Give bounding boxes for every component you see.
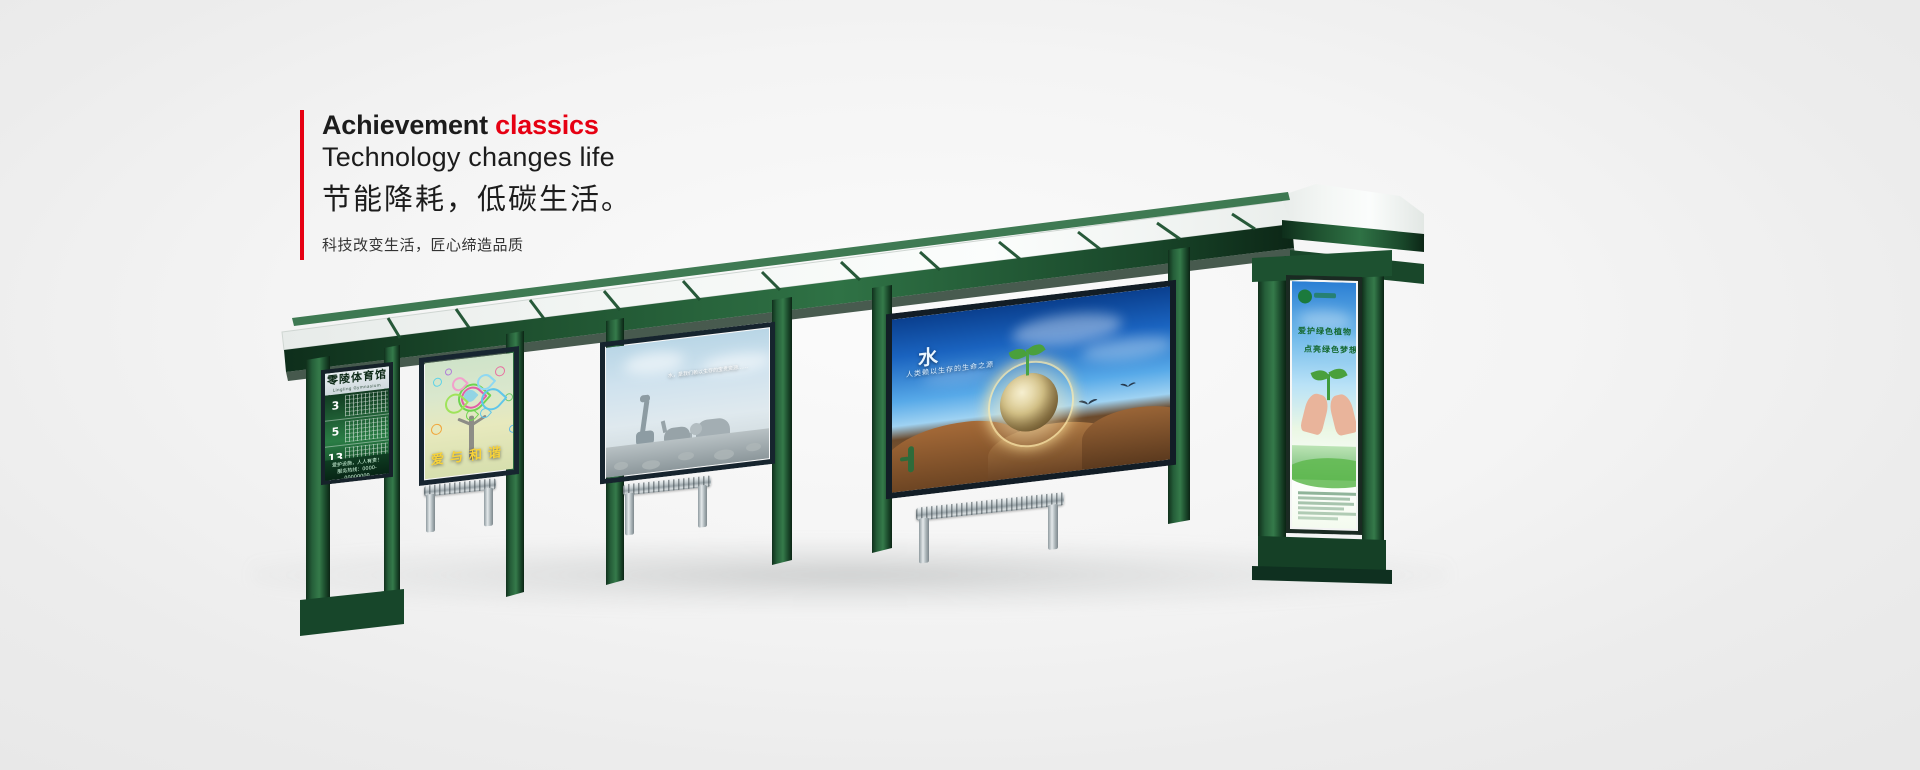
pylon-left-edge <box>1258 256 1286 562</box>
canvas-stage: Achievement classics Technology changes … <box>0 0 1920 770</box>
route-stop-grid <box>345 416 388 442</box>
lightbox-tree[interactable]: 爱与和谐 <box>419 346 519 486</box>
pylon-right-edge <box>1362 264 1384 562</box>
lightbox-water[interactable]: 水 人类赖以生存的生命之源 <box>886 280 1176 500</box>
green-hands-artwork: 爱护绿色植物 点亮绿色梦想 <box>1292 281 1356 529</box>
route-number: 5 <box>327 425 344 440</box>
lightbox-hands[interactable]: 爱护绿色植物 点亮绿色梦想 <box>1286 275 1362 535</box>
fine-print-block <box>1298 489 1356 523</box>
schedule-lightbox[interactable]: 零陵体育馆 Lingling Gymnasium 3 5 13 <box>321 362 393 485</box>
schedule-body: 3 5 13 23 爱护 <box>325 388 389 480</box>
route-number: 3 <box>327 399 344 414</box>
tree-artwork <box>425 353 513 479</box>
bench-2[interactable] <box>623 475 711 536</box>
bench-1[interactable] <box>424 478 496 534</box>
wildlife-artwork <box>606 328 769 477</box>
lightbox-animals[interactable]: 水，是我们赖以生存的宝贵资源…… <box>600 322 775 485</box>
bus-shelter: 零陵体育馆 Lingling Gymnasium 3 5 13 <box>0 0 1920 770</box>
water-artwork <box>892 286 1170 492</box>
post-4 <box>772 297 792 565</box>
route-stop-grid <box>345 390 388 416</box>
